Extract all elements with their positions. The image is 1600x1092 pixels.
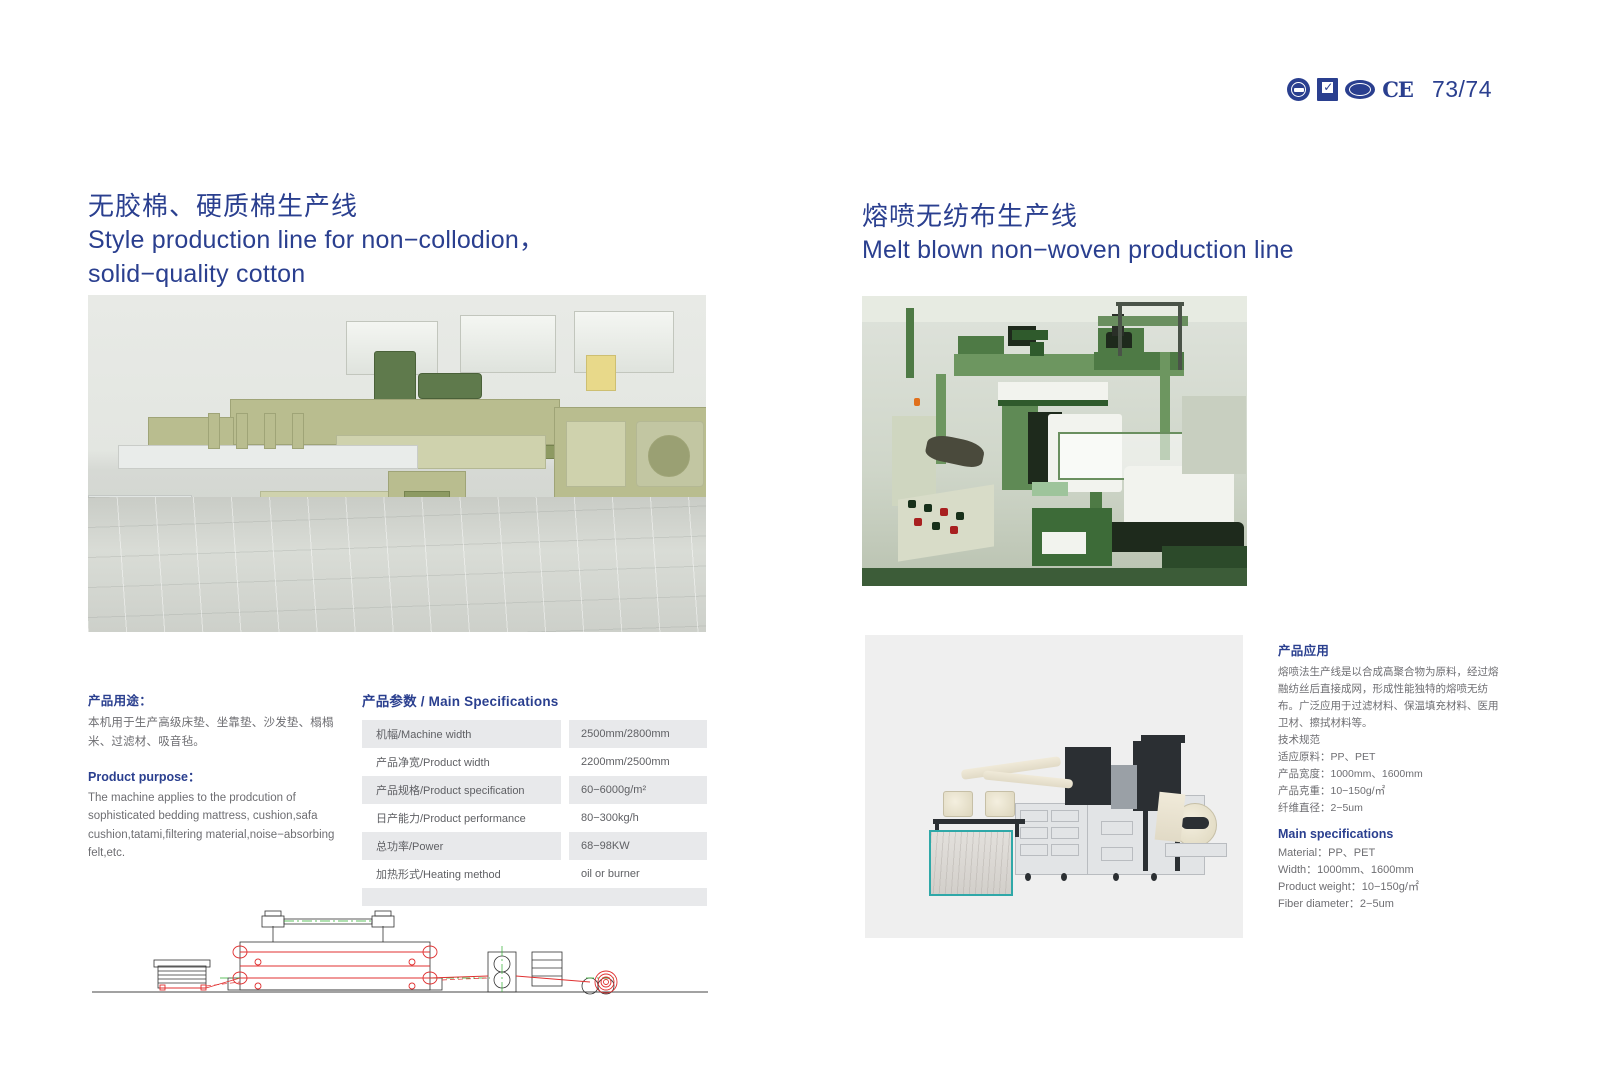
product-purpose-block: 产品用途： 本机用于生产高级床垫、坐靠垫、沙发垫、榻榻米、过滤材、吸音毡。 Pr… [88, 690, 350, 863]
spec-weight-english: Product weight：10−150g/㎡ [1278, 879, 1503, 896]
left-title-english-line2: solid−quality cotton [88, 258, 728, 292]
spec-value: 60−6000g/m² [569, 776, 707, 804]
iso-seal-icon [1287, 78, 1310, 101]
melt-blown-info-block: 产品应用 熔喷法生产线是以合成高聚合物为原料，经过熔融纺丝后直接成网，形成性能独… [1278, 640, 1503, 913]
cell-spacer [561, 804, 569, 832]
right-title-chinese: 熔喷无纺布生产线 [862, 200, 1512, 234]
application-heading-chinese: 产品应用 [1278, 640, 1503, 659]
spec-value: 68−98KW [569, 832, 707, 860]
purpose-heading-chinese: 产品用途： [88, 690, 350, 709]
page-number: 73/74 [1432, 76, 1492, 103]
right-title-block: 熔喷无纺布生产线 Melt blown non−woven production… [862, 200, 1512, 268]
cnas-check-icon [1317, 78, 1338, 101]
tech-spec-width-chinese: 产品宽度：1000mm、1600mm [1278, 766, 1503, 783]
spec-label: 日产能力/Product performance [362, 804, 561, 832]
spec-value: 2500mm/2800mm [569, 720, 707, 748]
tech-spec-fiber-chinese: 纤维直径：2−5um [1278, 800, 1503, 817]
iaf-oval-icon [1345, 80, 1375, 99]
tech-spec-material-chinese: 适应原料：PP、PET [1278, 749, 1503, 766]
photo-cotton-production-line [88, 295, 706, 632]
spec-value: 80−300kg/h [569, 804, 707, 832]
table-row: 产品净宽/Product width 2200mm/2500mm [362, 748, 707, 776]
fabric-sample-inset [929, 830, 1013, 896]
cell-spacer [561, 720, 569, 748]
ce-mark-icon: CE [1382, 79, 1413, 100]
cell-spacer [561, 748, 569, 776]
spec-value: 2200mm/2500mm [569, 748, 707, 776]
spec-label: 加热形式/Heating method [362, 860, 561, 888]
photo-melt-blown-line [862, 296, 1247, 586]
spec-label: 机幅/Machine width [362, 720, 561, 748]
purpose-heading-english: Product purpose： [88, 766, 350, 785]
tech-spec-weight-chinese: 产品克重：10−150g/㎡ [1278, 783, 1503, 800]
table-row: 日产能力/Product performance 80−300kg/h [362, 804, 707, 832]
tech-spec-heading-chinese: 技术规范 [1278, 732, 1503, 749]
purpose-body-chinese: 本机用于生产高级床垫、坐靠垫、沙发垫、榻榻米、过滤材、吸音毡。 [88, 714, 350, 752]
left-title-chinese: 无胶棉、硬质棉生产线 [88, 190, 728, 224]
spec-label: 产品净宽/Product width [362, 748, 561, 776]
cell-spacer [561, 776, 569, 804]
production-line-schematic-diagram [90, 890, 710, 1000]
main-specifications-heading-english: Main specifications [1278, 827, 1503, 841]
specifications-section: 产品参数 / Main Specifications 机幅/Machine wi… [362, 690, 707, 906]
left-title-english-line1: Style production line for non−collodion， [88, 224, 728, 258]
cell-spacer [561, 832, 569, 860]
spec-fiber-english: Fiber diameter：2−5um [1278, 896, 1503, 913]
table-row: 机幅/Machine width 2500mm/2800mm [362, 720, 707, 748]
table-row: 加热形式/Heating method oil or burner [362, 860, 707, 888]
cell-spacer [561, 860, 569, 888]
spec-material-english: Material：PP、PET [1278, 845, 1503, 862]
specifications-table: 机幅/Machine width 2500mm/2800mm 产品净宽/Prod… [362, 720, 707, 906]
spec-label: 产品规格/Product specification [362, 776, 561, 804]
panel-mask-machine-image [865, 635, 1243, 938]
application-body-chinese: 熔喷法生产线是以合成高聚合物为原料，经过熔融纺丝后直接成网，形成性能独特的熔喷无… [1278, 664, 1503, 732]
left-title-block: 无胶棉、硬质棉生产线 Style production line for non… [88, 190, 728, 291]
page-header: CE 73/74 [1287, 76, 1492, 103]
spec-value: oil or burner [569, 860, 707, 888]
spec-label: 总功率/Power [362, 832, 561, 860]
spec-width-english: Width：1000mm、1600mm [1278, 862, 1503, 879]
table-row: 产品规格/Product specification 60−6000g/m² [362, 776, 707, 804]
spec-table-title: 产品参数 / Main Specifications [362, 690, 707, 710]
right-title-english: Melt blown non−woven production line [862, 234, 1512, 268]
purpose-body-english: The machine applies to the prodcution of… [88, 789, 350, 863]
table-row: 总功率/Power 68−98KW [362, 832, 707, 860]
